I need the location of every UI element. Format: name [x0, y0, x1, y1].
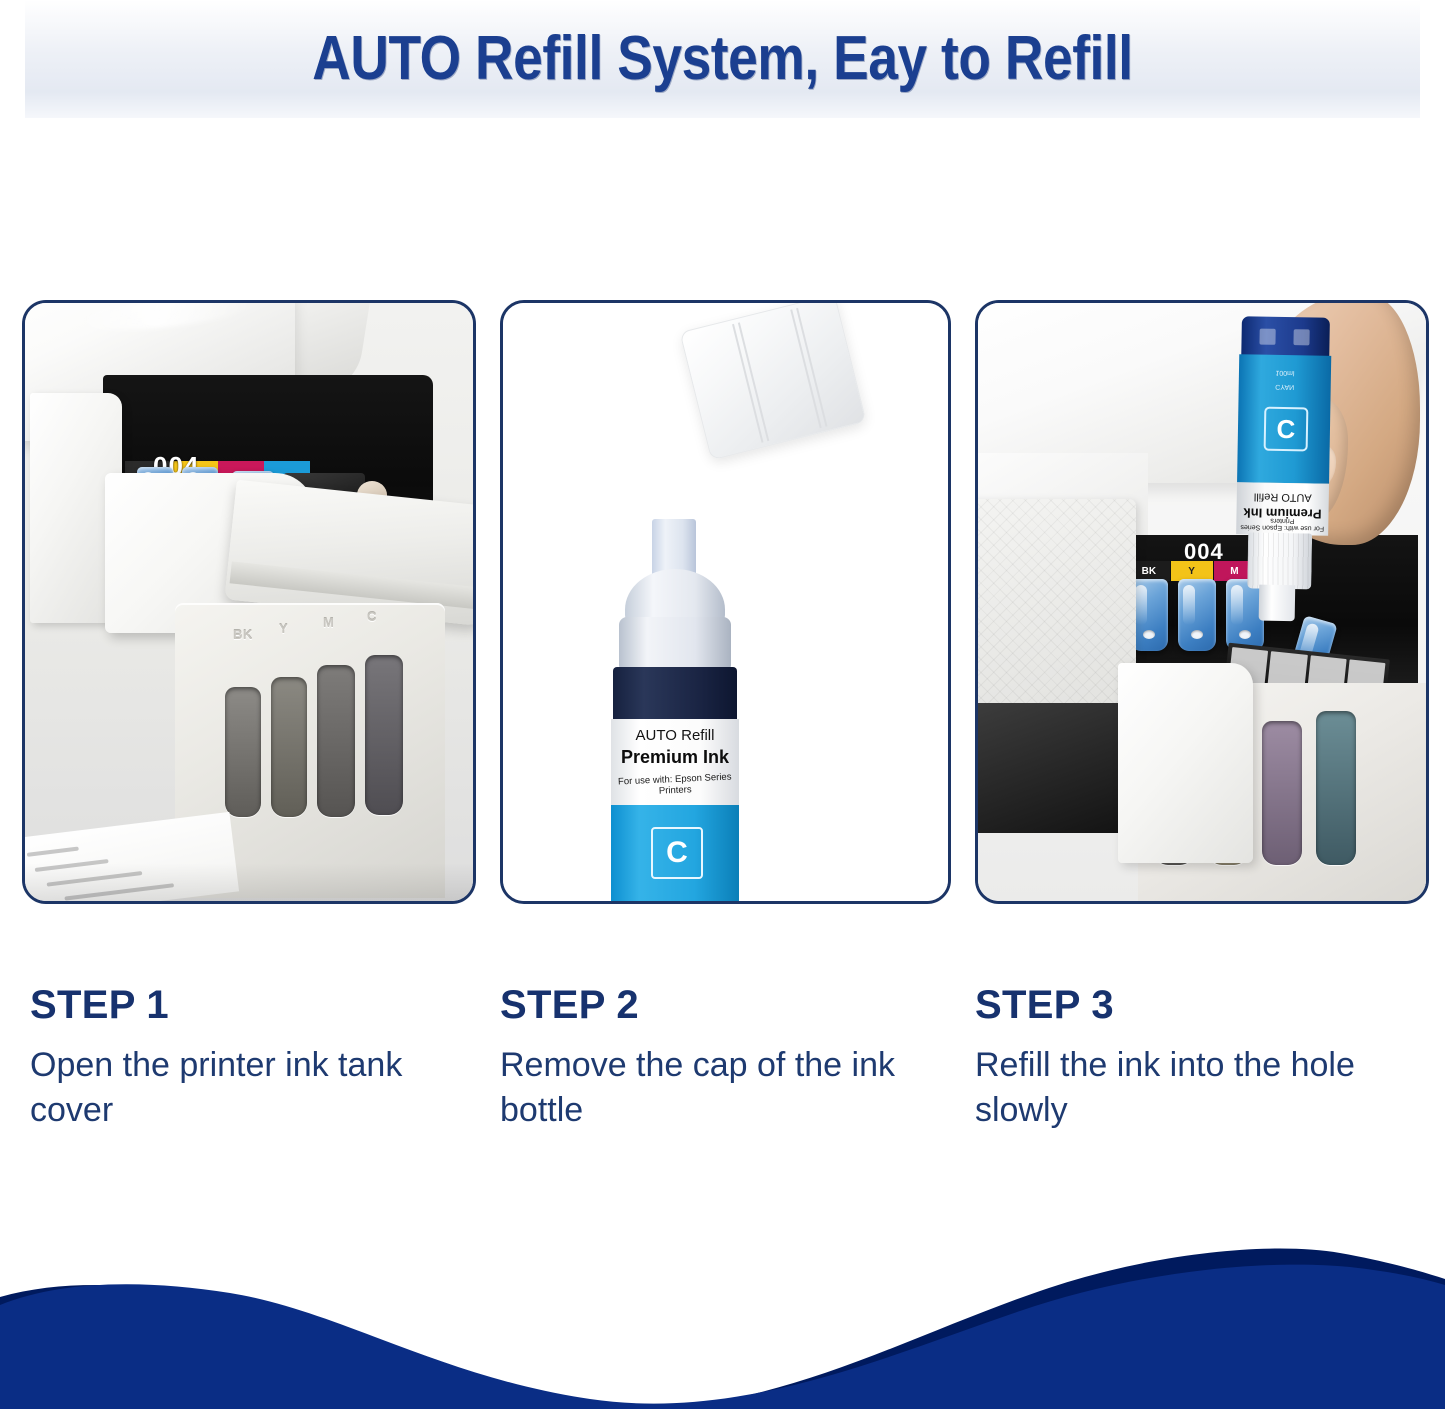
tank-window-c — [365, 655, 403, 815]
bottle-dark-band — [613, 667, 737, 725]
tank-label-y: Y — [279, 621, 288, 636]
printer-base-shadow — [978, 703, 1138, 833]
cap-rib — [796, 308, 827, 427]
page-title: AUTO Refill System, Eay to Refill — [101, 0, 1344, 118]
bottle-collar — [619, 617, 731, 671]
step-2-description: Remove the cap of the ink bottle — [500, 1043, 940, 1133]
bottle-color-code: C — [651, 827, 703, 879]
bottom-wave-decoration — [0, 1219, 1445, 1409]
step-3-description: Refill the ink into the hole slowly — [975, 1043, 1423, 1133]
bottle-label: AUTO Refill Premium Ink For use with: Ep… — [611, 719, 739, 805]
printer-open-cover-photo: 004 BK Y M C — [25, 303, 473, 901]
cap-rib — [738, 322, 769, 441]
step-3-text: STEP 3 Refill the ink into the hole slow… — [975, 985, 1423, 1133]
clip-highlight — [1231, 585, 1243, 625]
lid-highlight — [79, 303, 251, 336]
clip-highlight — [1135, 585, 1147, 625]
cap-slot — [1293, 329, 1309, 345]
tank-label-m: M — [323, 615, 334, 630]
color-tab-y: Y — [1171, 561, 1213, 581]
opened-tank-cover — [1118, 663, 1253, 863]
tank-window-y — [271, 677, 307, 817]
photo-shadow — [25, 863, 473, 901]
cap-slot — [1259, 329, 1275, 345]
bottle-tip — [1259, 585, 1296, 622]
step-2-image-panel: AUTO Refill Premium Ink For use with: Ep… — [500, 300, 951, 904]
bottle-cap — [1241, 316, 1330, 358]
step-1-text: STEP 1 Open the printer ink tank cover — [30, 985, 470, 1133]
cap-rib — [732, 324, 763, 443]
step-1-title: STEP 1 — [30, 985, 470, 1025]
step-2-text: STEP 2 Remove the cap of the ink bottle — [500, 985, 940, 1133]
clip-highlight — [1183, 585, 1195, 625]
bottle-label-line-1: AUTO Refill — [611, 727, 739, 744]
bottle-color-band: C — [611, 805, 739, 901]
tank-label-c: C — [367, 609, 377, 624]
step-2-title: STEP 2 — [500, 985, 940, 1025]
tank-window-m — [317, 665, 355, 817]
ink-bottle-cap-removed-photo: AUTO Refill Premium Ink For use with: Ep… — [503, 303, 948, 901]
refilling-ink-photo: 004 BK Y M C 100ml CYAN C — [978, 303, 1426, 901]
cap-rib — [790, 309, 821, 428]
printer-textured-panel — [978, 499, 1136, 709]
ink-bottle-inverted: 100ml CYAN C For use with: Epson Series … — [1234, 316, 1334, 540]
bottle-label-line-2: Premium Ink — [611, 747, 739, 768]
bottle-nozzle — [1247, 532, 1312, 589]
bottle-label-line-3: For use with: Epson Series Printers — [611, 771, 740, 799]
wave-front-shape — [0, 1265, 1445, 1409]
bottle-color-name-text: CYAN — [1239, 382, 1331, 391]
wave-svg — [0, 1219, 1445, 1409]
bottle-color-band: 100ml CYAN C — [1237, 354, 1331, 484]
clip-dot — [1239, 630, 1251, 639]
step-1-description: Open the printer ink tank cover — [30, 1043, 470, 1133]
tank-window-m — [1262, 721, 1302, 865]
tank-label-bk: BK — [233, 627, 253, 642]
bottle-label-line-1: AUTO Refill — [1237, 490, 1329, 504]
tank-window-c — [1316, 711, 1356, 865]
bottle-color-code: C — [1264, 407, 1309, 452]
step-1-image-panel: 004 BK Y M C — [22, 300, 476, 904]
tank-clip-2 — [1178, 579, 1216, 651]
clip-dot — [1143, 630, 1155, 639]
step-3-image-panel: 004 BK Y M C 100ml CYAN C — [975, 300, 1429, 904]
bottle-label-line-2: Premium Ink — [1236, 505, 1328, 522]
paper-text-line — [27, 847, 79, 857]
step-3-title: STEP 3 — [975, 985, 1423, 1025]
clip-dot — [1191, 630, 1203, 639]
tank-window-bk — [225, 687, 261, 817]
bottle-volume-text: 100ml — [1239, 368, 1331, 377]
ink-bottle: AUTO Refill Premium Ink For use with: Ep… — [607, 519, 757, 901]
bottle-label: For use with: Epson Series Printers Prem… — [1236, 482, 1329, 536]
